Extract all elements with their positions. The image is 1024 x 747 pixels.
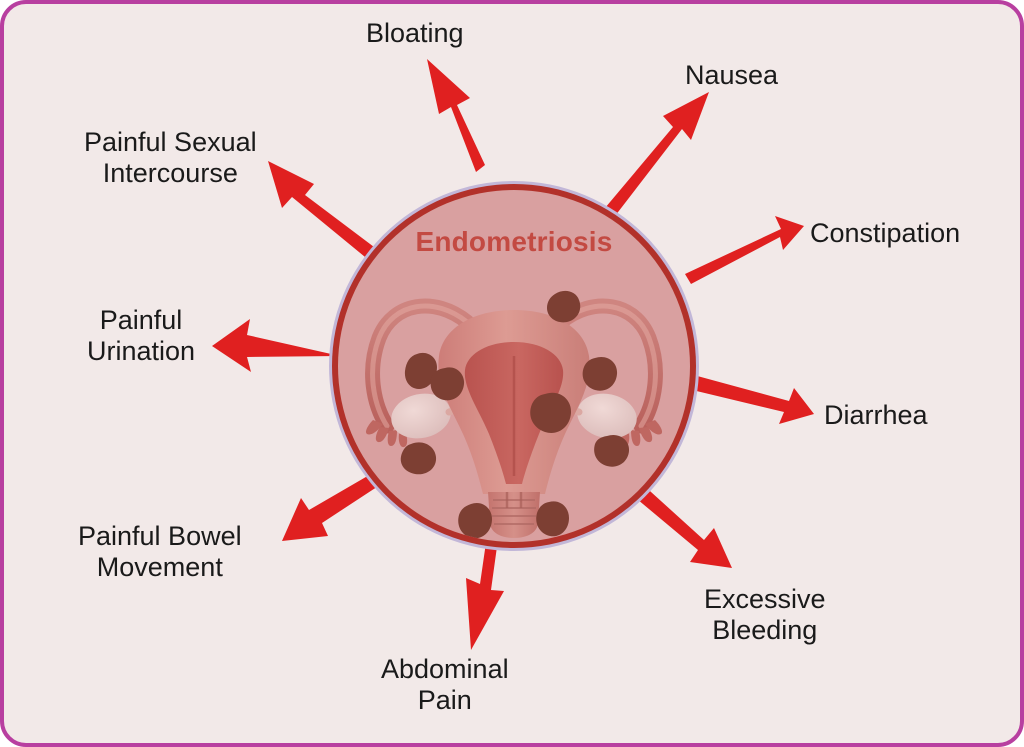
arrow-constipation (685, 216, 804, 284)
symptom-label-nausea[interactable]: Nausea (685, 60, 778, 91)
endometriosis-symptoms-poster: Endometriosis (0, 0, 1024, 747)
symptom-label-constipation[interactable]: Constipation (810, 218, 960, 249)
uterus-with-endometrial-lesions-icon (349, 276, 679, 538)
arrow-painful-urination (212, 319, 340, 372)
circle-fill: Endometriosis (338, 190, 690, 542)
symptom-label-painful-urination[interactable]: Painful Urination (87, 305, 195, 368)
page-title: Endometriosis (338, 226, 690, 258)
symptom-label-diarrhea[interactable]: Diarrhea (824, 400, 928, 431)
symptom-label-excessive-bleeding[interactable]: Excessive Bleeding (704, 584, 826, 647)
arrow-bloating (427, 59, 485, 172)
arrow-diarrhea (684, 374, 814, 424)
center-circle: Endometriosis (329, 181, 699, 551)
symptom-label-abdominal-pain[interactable]: Abdominal Pain (381, 654, 509, 717)
symptom-label-painful-bowel-movement[interactable]: Painful Bowel Movement (78, 521, 242, 584)
symptom-label-bloating[interactable]: Bloating (366, 18, 464, 49)
symptom-label-painful-sexual-intercourse[interactable]: Painful Sexual Intercourse (84, 127, 257, 190)
